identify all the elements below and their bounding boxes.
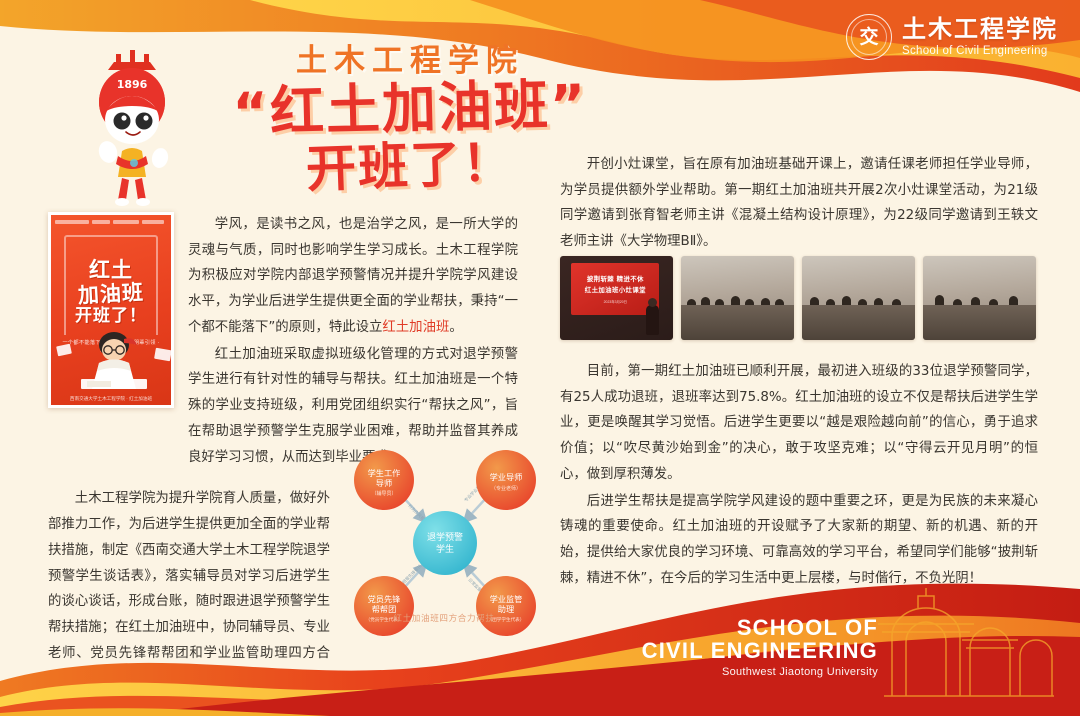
svg-text:导师: 导师 <box>376 478 392 488</box>
svg-text:（专业老师）: （专业老师） <box>491 485 521 492</box>
screen-date: 2023年3月20日 <box>604 299 627 304</box>
college-logo: 交 土木工程学院 School of Civil Engineering <box>846 14 1058 60</box>
right-paragraph-1-text: 开创小灶课堂，旨在原有加油班基础开课上，邀请任课老师担任学业导师，为学员提供额外… <box>560 157 1038 249</box>
logo-title-cn: 土木工程学院 <box>902 17 1058 43</box>
desk-surface <box>802 305 915 340</box>
title-line-2: “红土加油班” <box>199 76 620 143</box>
svg-text:学业导师: 学业导师 <box>490 472 523 482</box>
campus-arch-icon <box>874 586 1054 698</box>
title-line-1: 土木工程学院 <box>200 46 620 77</box>
photo-classroom-2 <box>802 256 915 340</box>
svg-text:学生工作: 学生工作 <box>368 468 401 478</box>
right-paragraph-2-text: 目前，第一期红土加油班已顺利开展，最初进入班级的33位退学预警同学，有25人成功… <box>560 364 1038 482</box>
left-paragraph-1-text: 学风，是读书之风，也是治学之风，是一所大学的灵魂与气质，同时也影响学生学习成长。… <box>188 217 518 335</box>
left-top-group: 红土 加油班 开班了！ 一个都不能落下 · 学业帮扶 · 朋辈引领 · 共赴山海 <box>48 212 540 470</box>
svg-text:（辅导员）: （辅导员） <box>371 490 396 497</box>
logo-title-en: School of Civil Engineering <box>902 45 1058 57</box>
photo-classroom-1 <box>681 256 794 340</box>
footer-line-3: Southwest Jiaotong University <box>642 666 878 678</box>
desk-surface <box>681 305 794 340</box>
highlighted-term: 红土加油班 <box>382 320 449 335</box>
mascot-badge-year: 1896 <box>117 78 148 91</box>
promo-line-3: 开班了！ <box>51 307 171 326</box>
promo-line-2: 加油班 <box>50 279 171 309</box>
seal-glyph: 交 <box>859 28 878 47</box>
speaker-figure <box>646 305 659 335</box>
promo-student-illustration <box>51 327 174 389</box>
promo-line-1: 红土 <box>51 259 171 283</box>
poster-root: 交 土木工程学院 School of Civil Engineering 189… <box>0 0 1080 716</box>
footer-branding: SCHOOL OF CIVIL ENGINEERING Southwest Ji… <box>642 616 878 679</box>
desk-surface <box>923 305 1036 340</box>
right-paragraph-1: 开创小灶课堂，旨在原有加油班基础开课上，邀请任课老师担任学业导师，为学员提供额外… <box>560 152 1038 255</box>
promo-banner-bar <box>55 218 167 226</box>
right-paragraph-2: 目前，第一期红土加油班已顺利开展，最初进入班级的33位退学预警同学，有25人成功… <box>560 359 1038 488</box>
promo-footer-text: 西南交通大学土木工程学院 · 红土加油班 <box>57 396 165 402</box>
footer-line-1: SCHOOL OF <box>642 616 878 640</box>
left-paragraph-1: 学风，是读书之风，也是治学之风，是一所大学的灵魂与气质，同时也影响学生学习成长。… <box>188 212 518 341</box>
mascot-icon: 1896 <box>72 36 192 216</box>
poster-title: 土木工程学院 “红土加油班” 开班了！ <box>200 46 620 192</box>
university-seal-icon: 交 <box>846 14 892 60</box>
footer-line-2: CIVIL ENGINEERING <box>642 639 878 663</box>
promo-poster-image: 红土 加油班 开班了！ 一个都不能落下 · 学业帮扶 · 朋辈引领 · 共赴山海 <box>48 212 174 408</box>
logo-text-group: 土木工程学院 School of Civil Engineering <box>902 17 1058 57</box>
photo-lecture-screen: 披荆斩棘 精进不休 红土加油班小灶课堂 2023年3月20日 <box>560 256 673 340</box>
promo-title-text: 红土 加油班 开班了！ <box>51 259 171 326</box>
photo-classroom-3 <box>923 256 1036 340</box>
screen-line-2: 红土加油班小灶课堂 <box>585 285 646 294</box>
activity-photo-row: 披荆斩棘 精进不休 红土加油班小灶课堂 2023年3月20日 <box>560 256 1036 340</box>
screen-line-1: 披荆斩棘 精进不休 <box>587 274 644 283</box>
left-copy-group: 学风，是读书之风，也是治学之风，是一所大学的灵魂与气质，同时也影响学生学习成长。… <box>188 212 518 470</box>
right-content-column: 开创小灶课堂，旨在原有加油班基础开课上，邀请任课老师担任学业导师，为学员提供额外… <box>560 152 1038 592</box>
